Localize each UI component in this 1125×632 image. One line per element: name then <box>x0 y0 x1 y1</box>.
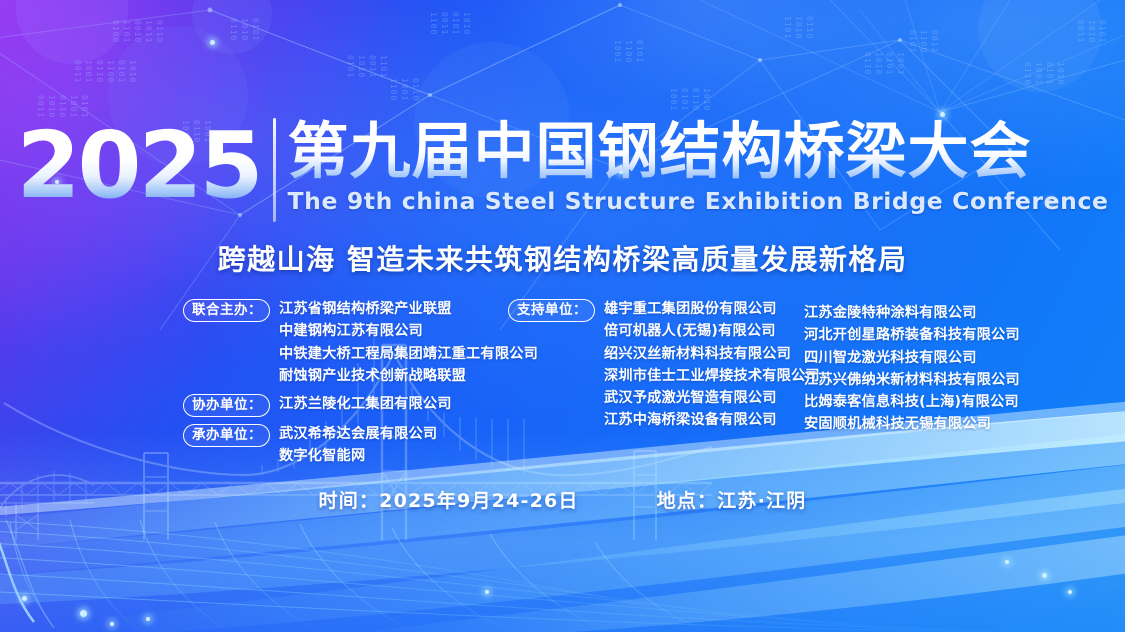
organizer-entry: 江苏省钢结构桥梁产业联盟 <box>279 298 538 320</box>
title-divider <box>273 118 276 222</box>
title-row: 2025 第九届中国钢结构桥梁大会 The 9th china Steel St… <box>0 118 1125 222</box>
organizer-entries: 江苏兰陵化工集团有限公司 <box>279 393 452 415</box>
organizer-entry: 江苏兴佛纳米新材料科技有限公司 <box>804 369 1018 391</box>
organizer-entry: 江苏中海桥梁设备有限公司 <box>604 409 820 431</box>
slogan-text: 跨越山海 智造未来共筑钢结构桥梁高质量发展新格局 <box>0 238 1125 278</box>
organizer-entry: 中铁建大桥工程局集团靖江重工有限公司 <box>279 343 538 365</box>
organizer-entry: 耐蚀钢产业技术创新战略联盟 <box>279 365 538 387</box>
organizer-group: 协办单位：江苏兰陵化工集团有限公司 <box>183 393 508 417</box>
organizers-column-2: 支持单位：雄宇重工集团股份有限公司倍可机器人(无锡)有限公司绍兴汉丝新材料科技有… <box>508 298 804 436</box>
organizer-entry: 深圳市佳士工业焊接技术有限公司 <box>604 365 820 387</box>
organizer-entry: 武汉予成激光智造有限公司 <box>604 387 820 409</box>
page-subtitle-en: The 9th china Steel Structure Exhibition… <box>288 187 1109 215</box>
organizer-role-label: 支持单位： <box>508 299 595 322</box>
organizer-entries: 武汉希希达会展有限公司数字化智能网 <box>279 423 437 468</box>
organizer-entry: 武汉希希达会展有限公司 <box>279 423 437 445</box>
organizers-block: 联合主办：江苏省钢结构桥梁产业联盟中建钢构江苏有限公司中铁建大桥工程局集团靖江重… <box>183 298 1018 472</box>
organizer-group: 联合主办：江苏省钢结构桥梁产业联盟中建钢构江苏有限公司中铁建大桥工程局集团靖江重… <box>183 298 508 387</box>
organizer-role-label: 协办单位： <box>183 394 270 417</box>
organizer-entry: 四川智龙激光科技有限公司 <box>804 347 1018 369</box>
organizer-role-label: 联合主办： <box>183 299 270 322</box>
organizer-group: 支持单位：雄宇重工集团股份有限公司倍可机器人(无锡)有限公司绍兴汉丝新材料科技有… <box>508 298 804 432</box>
organizer-role-label: 承办单位： <box>183 424 270 447</box>
title-stack: 第九届中国钢结构桥梁大会 The 9th china Steel Structu… <box>288 118 1109 215</box>
organizer-entry: 河北开创星路桥装备科技有限公司 <box>804 324 1018 346</box>
organizer-entry: 数字化智能网 <box>279 445 437 467</box>
conference-banner: 0101 1001 0110 1010 00111010 0101 1100 0… <box>0 0 1125 632</box>
organizer-entry: 中建钢构江苏有限公司 <box>279 320 538 342</box>
organizer-entry: 比姆泰客信息科技(上海)有限公司 <box>804 391 1018 413</box>
organizer-entry: 江苏兰陵化工集团有限公司 <box>279 393 452 415</box>
organizer-entry: 安固顺机械科技无锡有限公司 <box>804 413 1018 435</box>
organizer-entry: 雄宇重工集团股份有限公司 <box>604 298 820 320</box>
page-title: 第九届中国钢结构桥梁大会 <box>288 118 1109 186</box>
event-date: 时间：2025年9月24-26日 <box>319 486 579 513</box>
year-text: 2025 <box>16 120 272 212</box>
organizer-group: 承办单位：武汉希希达会展有限公司数字化智能网 <box>183 423 508 468</box>
organizer-entries: 江苏省钢结构桥梁产业联盟中建钢构江苏有限公司中铁建大桥工程局集团靖江重工有限公司… <box>279 298 538 387</box>
organizer-entry: 倍可机器人(无锡)有限公司 <box>604 320 820 342</box>
organizers-column-3: 江苏金陵特种涂料有限公司河北开创星路桥装备科技有限公司四川智龙激光科技有限公司江… <box>804 298 1018 436</box>
organizers-column-1: 联合主办：江苏省钢结构桥梁产业联盟中建钢构江苏有限公司中铁建大桥工程局集团靖江重… <box>183 298 508 472</box>
organizer-entry: 江苏金陵特种涂料有限公司 <box>804 302 1018 324</box>
organizer-entry: 绍兴汉丝新材料科技有限公司 <box>604 343 820 365</box>
organizer-entries: 雄宇重工集团股份有限公司倍可机器人(无锡)有限公司绍兴汉丝新材料科技有限公司深圳… <box>604 298 820 432</box>
banner-content: 2025 第九届中国钢结构桥梁大会 The 9th china Steel St… <box>0 0 1125 632</box>
event-details-row: 时间：2025年9月24-26日 地点：江苏·江阴 <box>0 486 1125 513</box>
event-location: 地点：江苏·江阴 <box>657 486 807 513</box>
